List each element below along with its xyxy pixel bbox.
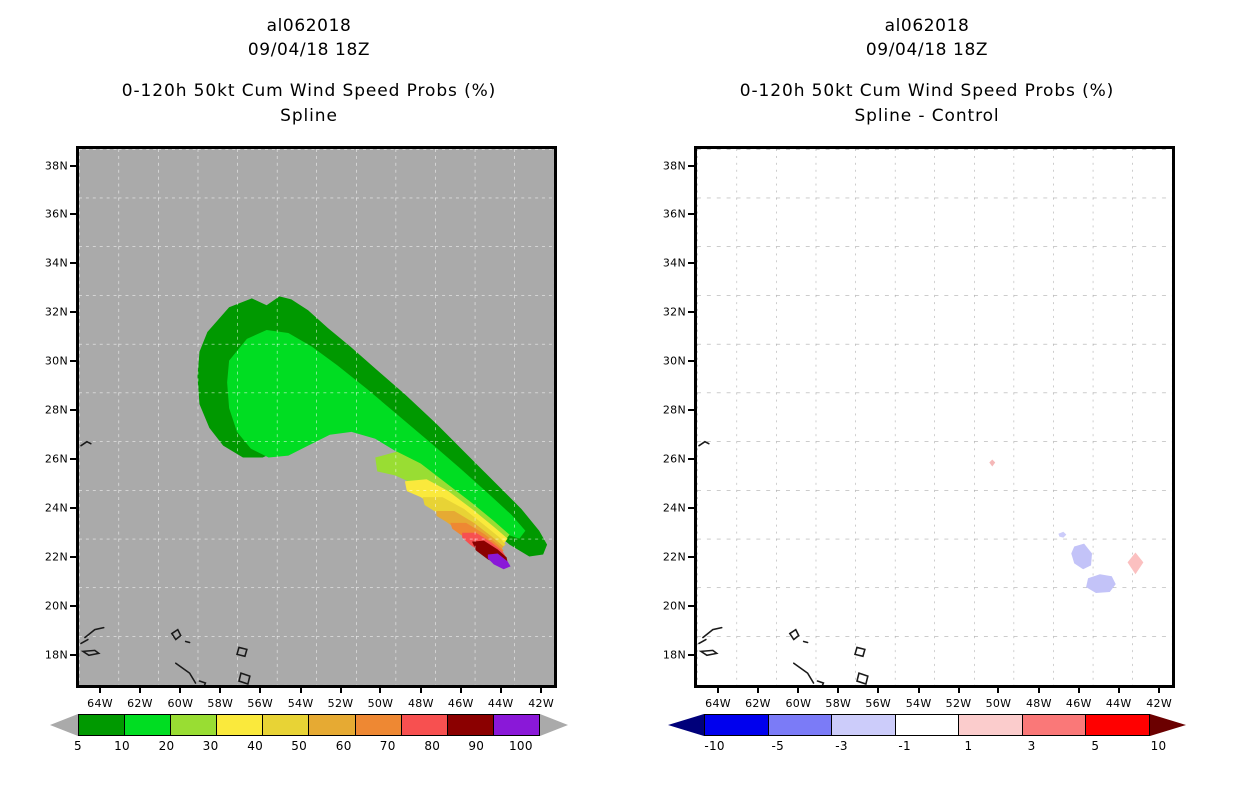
xtick-52W bbox=[340, 688, 342, 693]
colorbar-cell-100 bbox=[494, 715, 539, 735]
cbtick-20: 20 bbox=[159, 739, 175, 753]
xtick-58W bbox=[219, 688, 221, 693]
xlabel-64W: 64W bbox=[87, 697, 113, 710]
cbtick-10: 10 bbox=[114, 739, 130, 753]
panel-spline: al062018 09/04/18 18Z 0-120h 50kt Cum Wi… bbox=[0, 0, 618, 800]
colorbar-cells bbox=[704, 714, 1150, 736]
xtick-46W bbox=[1078, 688, 1080, 693]
ylabel-18N: 18N bbox=[45, 648, 68, 661]
probability-contours bbox=[79, 149, 554, 685]
xtick-58W bbox=[837, 688, 839, 693]
xtick-44W bbox=[500, 688, 502, 693]
ytick-18N bbox=[70, 654, 76, 656]
xtick-56W bbox=[259, 688, 261, 693]
ylabel-32N: 32N bbox=[45, 306, 68, 319]
ytick-24N bbox=[70, 507, 76, 509]
cbtick-100: 100 bbox=[509, 739, 533, 753]
panel-diff-titleblock: al062018 09/04/18 18Z 0-120h 50kt Cum Wi… bbox=[618, 0, 1236, 128]
ytick-38N bbox=[70, 165, 76, 167]
colorbar-cell-pos1 bbox=[959, 715, 1023, 735]
ylabel-34N: 34N bbox=[45, 257, 68, 270]
plot-pair: al062018 09/04/18 18Z 0-120h 50kt Cum Wi… bbox=[0, 0, 1236, 800]
colorbar-cell-neutral bbox=[896, 715, 960, 735]
xtick-56W bbox=[877, 688, 879, 693]
colorbar-cell-5 bbox=[79, 715, 125, 735]
ylabel-34N: 34N bbox=[663, 257, 686, 270]
cbtick-30: 30 bbox=[203, 739, 219, 753]
xtick-42W bbox=[1158, 688, 1160, 693]
xtick-44W bbox=[1118, 688, 1120, 693]
xlabel-44W: 44W bbox=[1106, 697, 1132, 710]
cbtick-neg3: -3 bbox=[835, 739, 848, 753]
ytick-22N bbox=[688, 556, 694, 558]
colorbar-cells bbox=[78, 714, 540, 736]
xtick-60W bbox=[797, 688, 799, 693]
grid-overlay bbox=[79, 149, 554, 685]
forecast-datetime: 09/04/18 18Z bbox=[0, 38, 618, 62]
ytick-26N bbox=[70, 458, 76, 460]
xlabel-54W: 54W bbox=[906, 697, 932, 710]
ylabel-18N: 18N bbox=[663, 648, 686, 661]
panel-title: 0-120h 50kt Cum Wind Speed Probs (%) bbox=[618, 78, 1236, 104]
cbtick-pos10: 10 bbox=[1151, 739, 1167, 753]
ytick-34N bbox=[70, 262, 76, 264]
xtick-52W bbox=[958, 688, 960, 693]
ytick-30N bbox=[688, 360, 694, 362]
ylabel-20N: 20N bbox=[663, 600, 686, 613]
probability-colorbar[interactable]: 5 10 20 30 40 50 60 70 80 90 100 bbox=[50, 714, 568, 760]
cbtick-5: 5 bbox=[74, 739, 82, 753]
xlabel-48W: 48W bbox=[1026, 697, 1052, 710]
xtick-62W bbox=[139, 688, 141, 693]
colorbar-cell-neg3 bbox=[832, 715, 896, 735]
xlabel-50W: 50W bbox=[368, 697, 394, 710]
ylabel-22N: 22N bbox=[663, 550, 686, 563]
ytick-20N bbox=[688, 605, 694, 607]
xtick-62W bbox=[757, 688, 759, 693]
panel-spline-minus-control: al062018 09/04/18 18Z 0-120h 50kt Cum Wi… bbox=[618, 0, 1236, 800]
cbtick-70: 70 bbox=[380, 739, 396, 753]
ytick-30N bbox=[70, 360, 76, 362]
colorbar-swatches bbox=[50, 714, 568, 736]
map-frame bbox=[694, 146, 1175, 688]
xtick-64W bbox=[717, 688, 719, 693]
map-difference[interactable]: 38N 36N 34N 32N 30N 28N 26N 24N 22N 20N … bbox=[694, 146, 1175, 688]
xlabel-42W: 42W bbox=[528, 697, 554, 710]
ylabel-26N: 26N bbox=[663, 453, 686, 466]
storm-id: al062018 bbox=[0, 14, 618, 38]
xlabel-62W: 62W bbox=[745, 697, 771, 710]
ytick-36N bbox=[688, 213, 694, 215]
xlabel-62W: 62W bbox=[127, 697, 153, 710]
colorbar-cell-70 bbox=[402, 715, 448, 735]
colorbar-cap-high-icon bbox=[540, 714, 568, 736]
ylabel-36N: 36N bbox=[45, 208, 68, 221]
xlabel-48W: 48W bbox=[408, 697, 434, 710]
xlabel-60W: 60W bbox=[167, 697, 193, 710]
ytick-28N bbox=[688, 409, 694, 411]
colorbar-cell-pos5 bbox=[1086, 715, 1149, 735]
cbtick-neg1: -1 bbox=[898, 739, 911, 753]
map-spline[interactable]: 38N 36N 34N 32N 30N 28N 26N 24N 22N 20N … bbox=[76, 146, 557, 688]
storm-id: al062018 bbox=[618, 14, 1236, 38]
colorbar-cell-40 bbox=[263, 715, 309, 735]
ylabel-30N: 30N bbox=[45, 355, 68, 368]
ylabel-24N: 24N bbox=[663, 502, 686, 515]
xtick-42W bbox=[540, 688, 542, 693]
cbtick-80: 80 bbox=[424, 739, 440, 753]
ylabel-38N: 38N bbox=[663, 159, 686, 172]
colorbar-cell-60 bbox=[356, 715, 402, 735]
ytick-20N bbox=[70, 605, 76, 607]
colorbar-cell-30 bbox=[217, 715, 263, 735]
xlabel-42W: 42W bbox=[1146, 697, 1172, 710]
ylabel-26N: 26N bbox=[45, 453, 68, 466]
ylabel-20N: 20N bbox=[45, 600, 68, 613]
ytick-34N bbox=[688, 262, 694, 264]
ytick-36N bbox=[70, 213, 76, 215]
forecast-datetime: 09/04/18 18Z bbox=[618, 38, 1236, 62]
xlabel-58W: 58W bbox=[825, 697, 851, 710]
xtick-50W bbox=[379, 688, 381, 693]
xtick-48W bbox=[420, 688, 422, 693]
ytick-28N bbox=[70, 409, 76, 411]
xtick-48W bbox=[1038, 688, 1040, 693]
xlabel-58W: 58W bbox=[207, 697, 233, 710]
map-frame bbox=[76, 146, 557, 688]
colorbar-cell-neg5 bbox=[769, 715, 833, 735]
ylabel-22N: 22N bbox=[45, 550, 68, 563]
map-canvas bbox=[697, 149, 1172, 685]
xtick-46W bbox=[460, 688, 462, 693]
cbtick-50: 50 bbox=[291, 739, 307, 753]
colorbar-cap-low-icon bbox=[668, 714, 704, 736]
ylabel-38N: 38N bbox=[45, 159, 68, 172]
xlabel-52W: 52W bbox=[328, 697, 354, 710]
xlabel-54W: 54W bbox=[288, 697, 314, 710]
xtick-64W bbox=[99, 688, 101, 693]
cbtick-pos3: 3 bbox=[1028, 739, 1036, 753]
cbtick-90: 90 bbox=[468, 739, 484, 753]
ytick-32N bbox=[688, 311, 694, 313]
ytick-18N bbox=[688, 654, 694, 656]
colorbar-cell-10 bbox=[125, 715, 171, 735]
cbtick-40: 40 bbox=[247, 739, 263, 753]
cbtick-neg10: -10 bbox=[704, 739, 725, 753]
ylabel-36N: 36N bbox=[663, 208, 686, 221]
colorbar-tick-labels: 5 10 20 30 40 50 60 70 80 90 100 bbox=[50, 736, 568, 756]
xlabel-56W: 56W bbox=[865, 697, 891, 710]
xlabel-60W: 60W bbox=[785, 697, 811, 710]
colorbar-cell-neg10 bbox=[705, 715, 769, 735]
cbtick-pos5: 5 bbox=[1091, 739, 1099, 753]
ytick-26N bbox=[688, 458, 694, 460]
cbtick-60: 60 bbox=[336, 739, 352, 753]
colorbar-cell-20 bbox=[171, 715, 217, 735]
xlabel-50W: 50W bbox=[986, 697, 1012, 710]
map-canvas bbox=[79, 149, 554, 685]
xlabel-52W: 52W bbox=[946, 697, 972, 710]
ytick-24N bbox=[688, 507, 694, 509]
xlabel-46W: 46W bbox=[448, 697, 474, 710]
xlabel-44W: 44W bbox=[488, 697, 514, 710]
colorbar-cap-low-icon bbox=[50, 714, 78, 736]
xlabel-64W: 64W bbox=[705, 697, 731, 710]
difference-contours bbox=[697, 149, 1172, 685]
colorbar-cap-high-icon bbox=[1150, 714, 1186, 736]
xtick-50W bbox=[997, 688, 999, 693]
ylabel-32N: 32N bbox=[663, 306, 686, 319]
ylabel-28N: 28N bbox=[663, 403, 686, 416]
xlabel-56W: 56W bbox=[247, 697, 273, 710]
xtick-54W bbox=[300, 688, 302, 693]
cbtick-neg5: -5 bbox=[772, 739, 785, 753]
colorbar-tick-labels: -10 -5 -3 -1 1 3 5 10 bbox=[668, 736, 1186, 756]
colorbar-cell-80 bbox=[448, 715, 494, 735]
panel-spline-titleblock: al062018 09/04/18 18Z 0-120h 50kt Cum Wi… bbox=[0, 0, 618, 128]
cbtick-pos1: 1 bbox=[964, 739, 972, 753]
colorbar-cell-pos3 bbox=[1023, 715, 1087, 735]
panel-subtitle: Spline bbox=[0, 104, 618, 128]
ytick-38N bbox=[688, 165, 694, 167]
grid-overlay bbox=[697, 149, 1172, 685]
ytick-32N bbox=[70, 311, 76, 313]
xlabel-46W: 46W bbox=[1066, 697, 1092, 710]
ylabel-28N: 28N bbox=[45, 403, 68, 416]
ytick-22N bbox=[70, 556, 76, 558]
panel-subtitle: Spline - Control bbox=[618, 104, 1236, 128]
difference-colorbar[interactable]: -10 -5 -3 -1 1 3 5 10 bbox=[668, 714, 1186, 760]
colorbar-swatches bbox=[668, 714, 1186, 736]
ylabel-30N: 30N bbox=[663, 355, 686, 368]
ylabel-24N: 24N bbox=[45, 502, 68, 515]
xtick-54W bbox=[918, 688, 920, 693]
xtick-60W bbox=[179, 688, 181, 693]
panel-title: 0-120h 50kt Cum Wind Speed Probs (%) bbox=[0, 78, 618, 104]
colorbar-cell-50 bbox=[309, 715, 355, 735]
